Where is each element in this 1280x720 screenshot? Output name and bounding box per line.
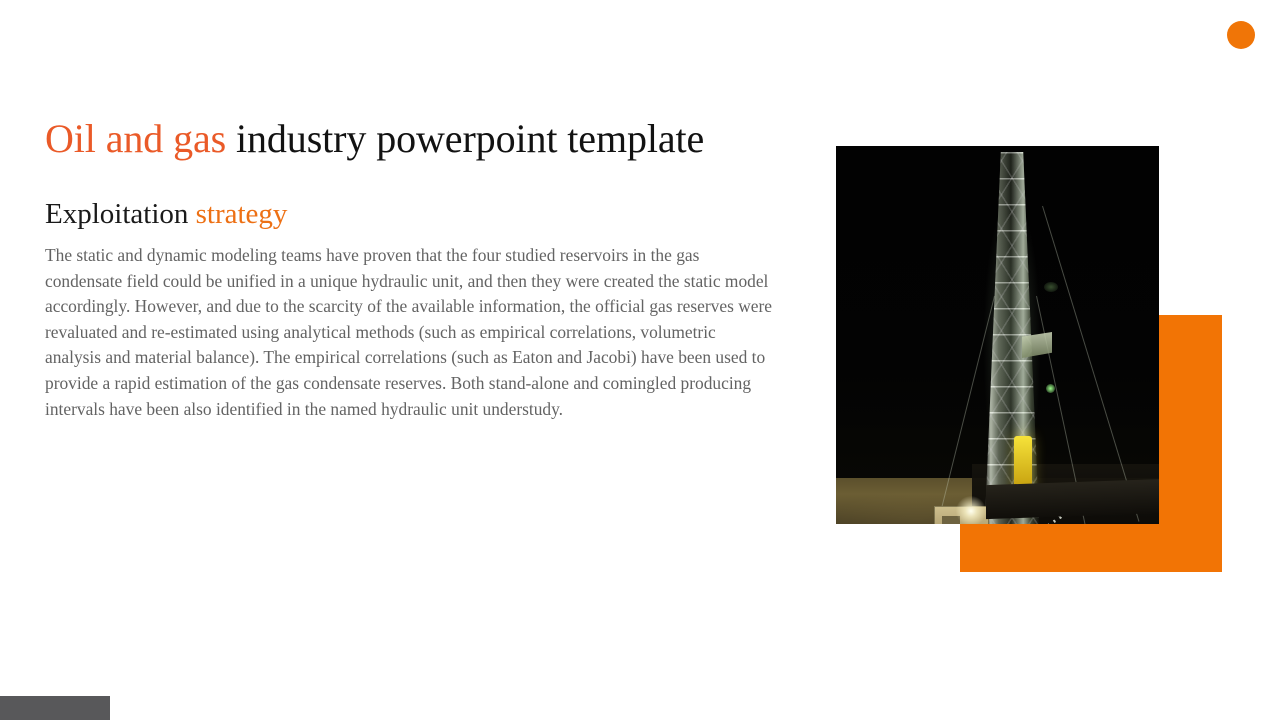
slide-canvas: Oil and gas industry powerpoint template…: [0, 0, 1280, 720]
drilling-rig-night-photo: [836, 146, 1159, 524]
footer-bar-decoration: [0, 696, 110, 720]
photo-sky-speck: [1044, 282, 1058, 292]
page-title-rest: industry powerpoint template: [226, 116, 704, 161]
section-heading: Exploitation strategy: [45, 197, 785, 231]
section-heading-accent: strategy: [196, 198, 288, 230]
corner-dot-decoration: [1227, 21, 1255, 49]
text-column: Oil and gas industry powerpoint template…: [45, 112, 785, 422]
photo-green-lamp: [1046, 384, 1055, 393]
page-title: Oil and gas industry powerpoint template: [45, 112, 785, 165]
section-heading-main: Exploitation: [45, 198, 196, 230]
body-paragraph: The static and dynamic modeling teams ha…: [45, 243, 775, 422]
photo-floodlight: [956, 496, 986, 524]
photo-pipe-deck: [986, 479, 1159, 519]
page-title-accent: Oil and gas: [45, 116, 226, 161]
